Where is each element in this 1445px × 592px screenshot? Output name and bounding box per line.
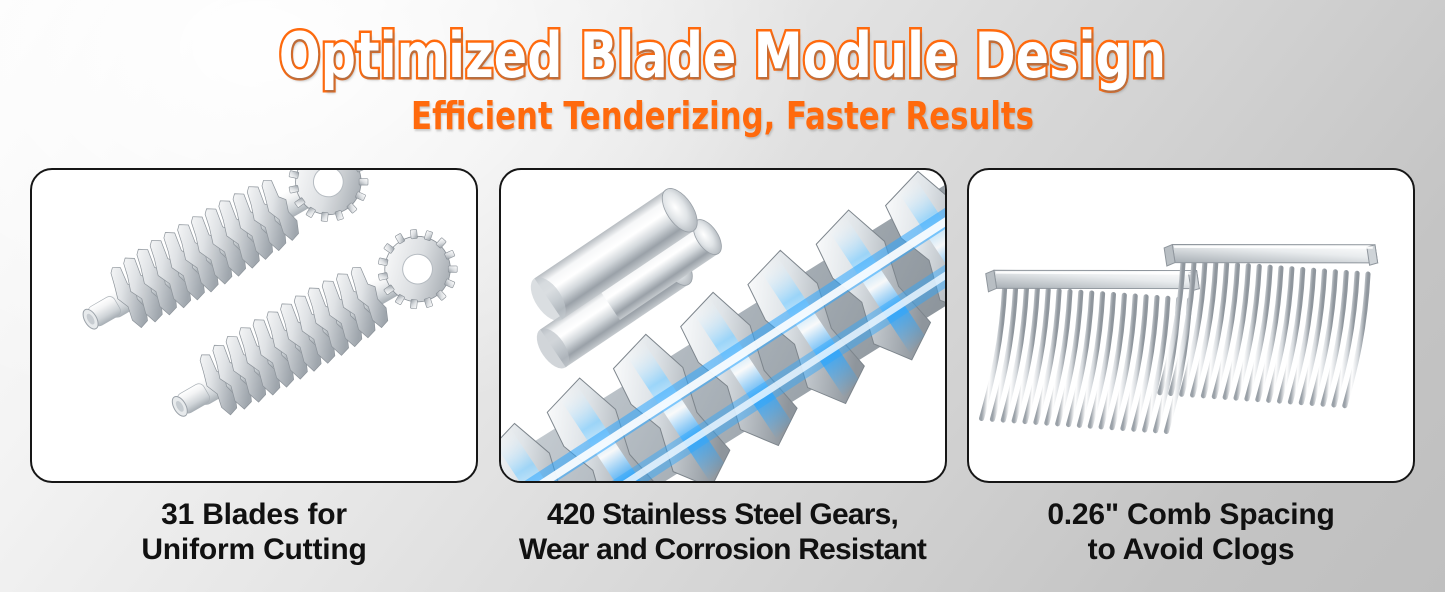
caption-blade-rollers: 31 Blades for Uniform Cutting [30, 497, 478, 579]
caption-line: 420 Stainless Steel Gears, [499, 497, 947, 532]
feature-panel-comb-spacing [967, 168, 1415, 483]
comb-left [976, 256, 1201, 433]
caption-line: to Avoid Clogs [967, 532, 1415, 567]
feature-panel-row [30, 168, 1415, 483]
page-title: Optimized Blade Module Design [87, 0, 1359, 91]
steel-rods-and-blade-roller-closeup-illustration [501, 170, 945, 482]
header-block: Optimized Blade Module Design Efficient … [0, 0, 1445, 137]
blade-roller-pair-illustration [32, 170, 476, 482]
comb-assembly-pair-illustration [969, 170, 1413, 482]
caption-line: 31 Blades for [30, 497, 478, 532]
page-subtitle: Efficient Tenderizing, Faster Results [72, 91, 1373, 137]
feature-caption-row: 31 Blades for Uniform Cutting 420 Stainl… [30, 497, 1415, 579]
infographic-banner: Optimized Blade Module Design Efficient … [0, 0, 1445, 592]
caption-line: 0.26" Comb Spacing [967, 497, 1415, 532]
feature-panel-blade-rollers [30, 168, 478, 483]
caption-comb-spacing: 0.26" Comb Spacing to Avoid Clogs [967, 497, 1415, 579]
feature-panel-stainless-gears [499, 168, 947, 483]
caption-line: Wear and Corrosion Resistant [499, 532, 947, 567]
comb-right [1154, 230, 1379, 407]
caption-stainless-gears: 420 Stainless Steel Gears, Wear and Corr… [499, 497, 947, 579]
caption-line: Uniform Cutting [30, 532, 478, 567]
